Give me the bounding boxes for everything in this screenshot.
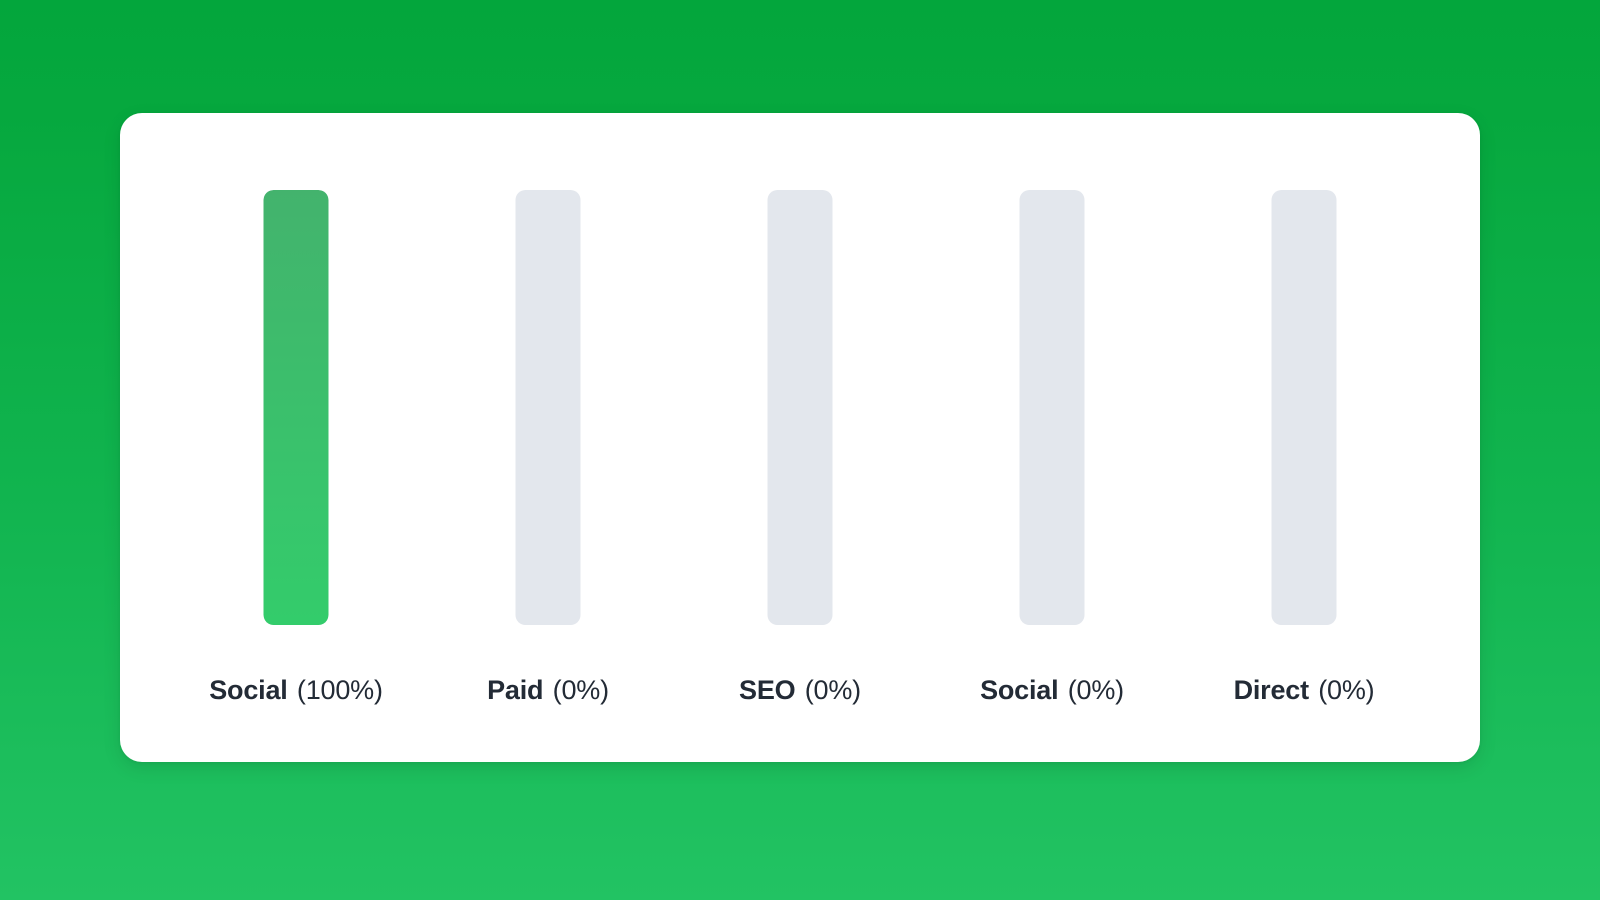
- bar-column-social-0[interactable]: Social (0%): [926, 113, 1178, 762]
- bar-label-name: Direct: [1234, 675, 1309, 705]
- bar-label-social-100: Social (100%): [170, 673, 422, 707]
- bar-track: [264, 190, 329, 625]
- bar-track: [768, 190, 833, 625]
- bar-label-percent: (0%): [1068, 675, 1124, 705]
- bar-label-social-0: Social (0%): [926, 673, 1178, 707]
- page-stage: Social (100%) Paid (0%): [0, 0, 1600, 900]
- bar-label-percent: (0%): [1318, 675, 1374, 705]
- bar-label-percent: (0%): [553, 675, 609, 705]
- bar-label-percent: (0%): [805, 675, 861, 705]
- bar-column-paid-0[interactable]: Paid (0%): [422, 113, 674, 762]
- bar-label-direct-0: Direct (0%): [1178, 673, 1430, 707]
- bar-label-name: Social: [980, 675, 1058, 705]
- bar-track: [516, 190, 581, 625]
- bar-column-direct-0[interactable]: Direct (0%): [1178, 113, 1430, 762]
- bar-label-seo-0: SEO (0%): [674, 673, 926, 707]
- attribution-chart-card: Social (100%) Paid (0%): [120, 113, 1480, 762]
- bar-label-paid-0: Paid (0%): [422, 673, 674, 707]
- bar-track: [1272, 190, 1337, 625]
- bar-label-name: SEO: [739, 675, 795, 705]
- bar-chart-plot-area: Social (100%) Paid (0%): [120, 113, 1480, 762]
- bar-fill-social-100: [264, 190, 329, 625]
- bar-label-name: Paid: [487, 675, 543, 705]
- bar-track: [1020, 190, 1085, 625]
- bar-label-percent: (100%): [297, 675, 383, 705]
- bar-label-name: Social: [209, 675, 287, 705]
- bar-column-social-100[interactable]: Social (100%): [170, 113, 422, 762]
- bar-column-seo-0[interactable]: SEO (0%): [674, 113, 926, 762]
